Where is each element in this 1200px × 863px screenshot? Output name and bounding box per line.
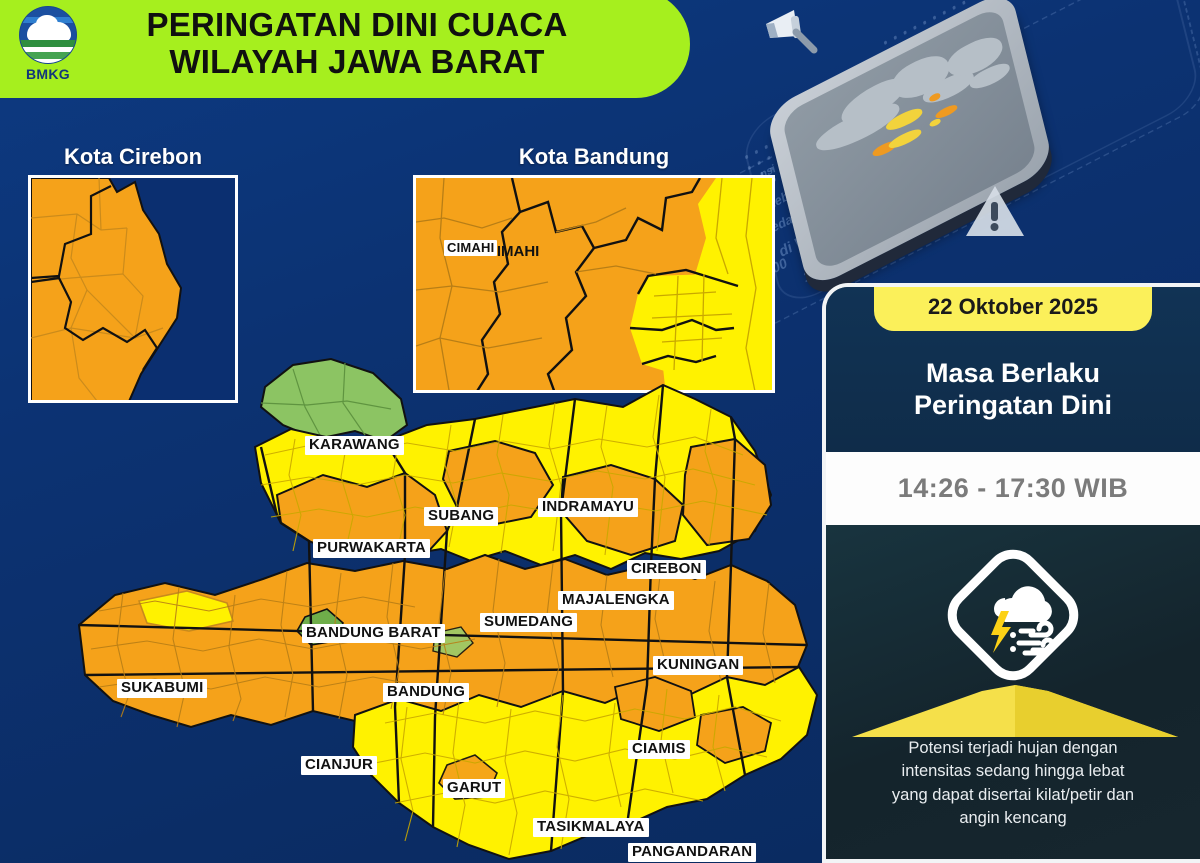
map-label-ciamis: CIAMIS [628, 740, 690, 759]
map-label-pangandaran: PANGANDARAN [628, 843, 756, 862]
header-banner: BMKG PERINGATAN DINI CUACA WILAYAH JAWA … [0, 0, 690, 98]
page-title-line2: WILAYAH JAWA BARAT [94, 44, 620, 81]
inset-title-bandung: Kota Bandung [413, 144, 775, 170]
warning-message-line3: yang dapat disertai kilat/petir dan [840, 784, 1186, 807]
validity-time: 14:26 - 17:30 WIB [826, 452, 1200, 525]
panel-subtitle: Masa Berlaku Peringatan Dini [914, 357, 1112, 422]
map-label-purwakarta: PURWAKARTA [313, 539, 430, 558]
panel-subtitle-line2: Peringatan Dini [914, 389, 1112, 421]
map-label-kuningan: KUNINGAN [653, 656, 743, 675]
warning-triangle-icon [962, 182, 1028, 244]
map-label-majalengka: MAJALENGKA [558, 591, 674, 610]
inset-label-cimahi-box: CIMAHI [444, 240, 497, 256]
warning-message-line2: intensitas sedang hingga lebat [840, 760, 1186, 783]
west-java-map: KARAWANG SUBANG INDRAMAYU PURWAKARTA CIR… [55, 355, 845, 863]
map-label-cianjur: CIANJUR [301, 756, 377, 775]
map-label-tasikmalaya: TASIKMALAYA [533, 818, 649, 837]
page-title: PERINGATAN DINI CUACA WILAYAH JAWA BARAT [94, 7, 690, 81]
map-label-garut: GARUT [443, 779, 505, 798]
map-label-subang: SUBANG [424, 507, 498, 526]
inset-title-cirebon: Kota Cirebon [28, 144, 238, 170]
warning-date: 22 Oktober 2025 [874, 283, 1152, 331]
warning-message-line4: angin kencang [840, 807, 1186, 830]
panel-body: Potensi terjadi hujan dengan intensitas … [826, 525, 1200, 859]
map-label-karawang: KARAWANG [305, 436, 404, 455]
map-label-bandung-barat: BANDUNG BARAT [302, 624, 445, 643]
warning-message-line1: Potensi terjadi hujan dengan [840, 737, 1186, 760]
infographic-canvas: nsi Lebat edang di Wilayah .00 11.00 [0, 0, 1200, 863]
panel-subtitle-line1: Masa Berlaku [914, 357, 1112, 389]
bmkg-logo-text: BMKG [26, 66, 70, 82]
map-label-sumedang: SUMEDANG [480, 613, 577, 632]
map-label-bandung: BANDUNG [383, 683, 469, 702]
map-label-cirebon: CIREBON [627, 560, 706, 579]
hill-graphic [852, 685, 1178, 737]
map-label-indramayu: INDRAMAYU [538, 498, 638, 517]
megaphone-icon [762, 6, 832, 54]
panel-header: 22 Oktober 2025 Masa Berlaku Peringatan … [826, 287, 1200, 452]
thunderstorm-wind-icon [947, 549, 1079, 681]
warning-info-panel: 22 Oktober 2025 Masa Berlaku Peringatan … [822, 283, 1200, 863]
warning-message: Potensi terjadi hujan dengan intensitas … [840, 737, 1186, 831]
page-title-line1: PERINGATAN DINI CUACA [94, 7, 620, 44]
map-label-sukabumi: SUKABUMI [117, 679, 207, 698]
bmkg-logo: BMKG [2, 6, 94, 82]
bmkg-logo-icon [19, 6, 77, 64]
